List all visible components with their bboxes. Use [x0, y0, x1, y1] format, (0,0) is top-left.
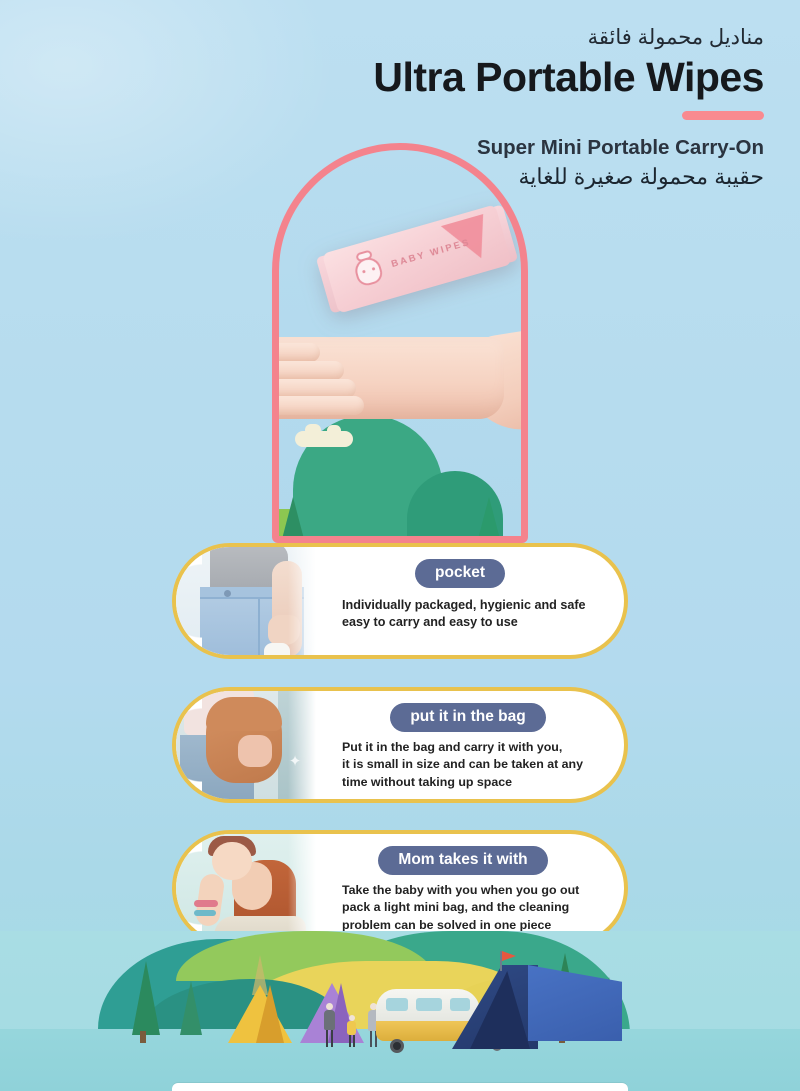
feature-pill-pocket[interactable]: pocket [415, 559, 505, 588]
figure-leg [353, 1035, 355, 1047]
caravan-window [416, 998, 442, 1011]
photo-left-mask [176, 834, 202, 942]
jeans-seam [258, 599, 260, 655]
feature-photo-bag: ✦ [176, 691, 322, 799]
feature-description-mom: Take the baby with you when you go out p… [336, 882, 608, 935]
pill-row: pocket [336, 559, 608, 588]
figure-leg [331, 1030, 333, 1047]
page-title: Ultra Portable Wipes [36, 55, 764, 101]
pill-row: Mom takes it with [336, 846, 608, 875]
tent-flag-icon [502, 951, 516, 961]
pill-row: put it in the bag [336, 703, 608, 732]
baby-head [212, 842, 252, 880]
figure-leg [326, 1030, 328, 1047]
caravan-window [386, 998, 408, 1011]
feature-description-bag: Put it in the bag and carry it with you,… [336, 739, 608, 792]
pine-tree-icon [132, 961, 160, 1035]
feature-card-mom[interactable]: Mom takes it with Take the baby with you… [172, 830, 628, 946]
feature-description-pocket: Individually packaged, hygienic and safe… [336, 597, 608, 633]
pink-arch-outline [272, 143, 528, 543]
handbag-flap [206, 697, 282, 731]
figure-body [324, 1010, 335, 1030]
wipe-in-pocket [264, 643, 290, 655]
kicker-arabic: مناديل محمولة فائقة [36, 26, 764, 49]
feature-card-pocket[interactable]: pocket Individually packaged, hygienic a… [172, 543, 628, 659]
feature-desc-line: it is small in size and can be taken at … [342, 756, 608, 774]
hand [238, 735, 272, 767]
photo-left-mask [176, 691, 202, 799]
hero-arch-frame: BABY WIPES [272, 143, 528, 543]
feature-card-bag[interactable]: ✦ put it in the bag Put it in the bag an… [172, 687, 628, 803]
feature-photo-pocket [176, 547, 322, 655]
figure-head [326, 1003, 333, 1010]
pine-tree-icon [180, 981, 202, 1035]
tent-blue-large [452, 965, 622, 1049]
feature-body-pocket: pocket Individually packaged, hygienic a… [322, 547, 624, 655]
caravan-wheel [390, 1039, 404, 1053]
feature-desc-line: Put it in the bag and carry it with you, [342, 739, 608, 757]
photo-right-fade [288, 834, 322, 942]
tree-trunk [140, 1031, 146, 1043]
feature-desc-line: Individually packaged, hygienic and safe [342, 597, 608, 615]
figure-child [346, 1015, 357, 1047]
figure-leg [349, 1035, 351, 1047]
feature-pill-mom[interactable]: Mom takes it with [378, 846, 547, 875]
accent-bar [682, 111, 764, 120]
feature-body-bag: put it in the bag Put it in the bag and … [322, 691, 624, 799]
figure-adult [322, 1003, 336, 1047]
feature-body-mom: Mom takes it with Take the baby with you… [322, 834, 624, 942]
camping-scene [0, 931, 800, 1091]
tent-yellow-shadow [256, 985, 284, 1043]
tent-right-panel [528, 965, 622, 1041]
feature-desc-line: pack a light mini bag, and the cleaning [342, 899, 608, 917]
feature-desc-line: easy to carry and easy to use [342, 614, 608, 632]
figure-body [347, 1021, 356, 1035]
photo-right-fade [288, 547, 322, 655]
feature-desc-line: Take the baby with you when you go out [342, 882, 608, 900]
feature-photo-mom [176, 834, 322, 942]
photo-right-fade [288, 691, 322, 799]
feature-desc-line: time without taking up space [342, 774, 608, 792]
feature-pill-bag[interactable]: put it in the bag [390, 703, 545, 732]
jeans-button-icon [224, 590, 231, 597]
figure-leg [370, 1031, 372, 1047]
photo-left-mask [176, 547, 202, 655]
family-figures [322, 1001, 382, 1047]
bottom-card-edge [172, 1083, 628, 1091]
product-infographic-poster: مناديل محمولة فائقة Ultra Portable Wipes… [0, 0, 800, 1091]
